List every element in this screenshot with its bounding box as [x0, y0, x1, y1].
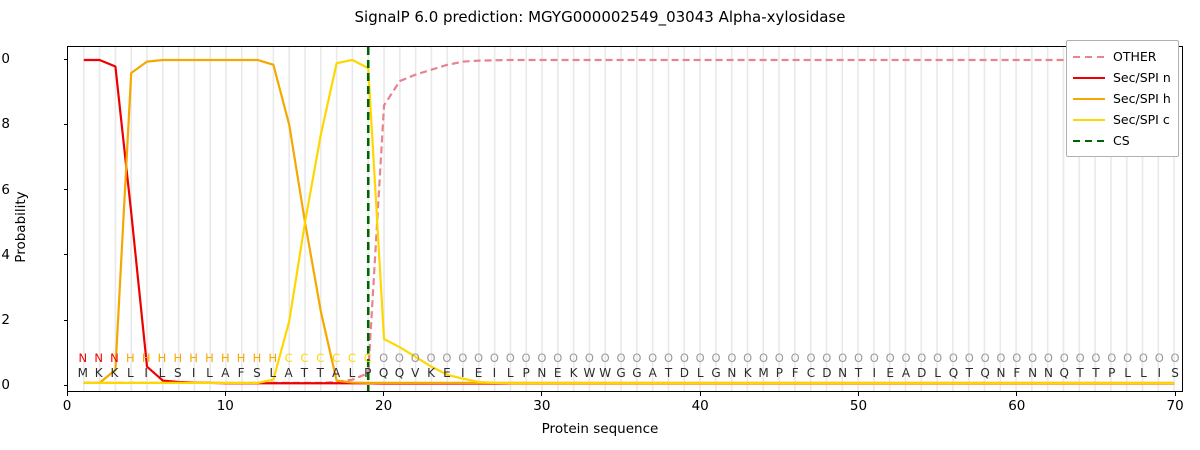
chart-legend: OTHERSec/SPI nSec/SPI hSec/SPI cCS	[1066, 40, 1179, 157]
legend-item-label: Sec/SPI c	[1113, 112, 1170, 127]
residue-region-code: O	[1160, 351, 1190, 365]
x-tick-mark	[383, 392, 384, 396]
x-tick-mark	[858, 392, 859, 396]
x-tick-label: 70	[1145, 398, 1200, 414]
x-tick-label: 40	[670, 398, 730, 414]
legend-item-sec-spi-c[interactable]: Sec/SPI c	[1073, 109, 1171, 130]
x-tick-label: 0	[37, 398, 97, 414]
legend-item-other[interactable]: OTHER	[1073, 46, 1171, 67]
x-tick-mark	[1016, 392, 1017, 396]
chart-title: SignalP 6.0 prediction: MGYG000002549_03…	[0, 8, 1200, 26]
plot-area	[67, 46, 1183, 392]
x-tick-label: 60	[987, 398, 1047, 414]
legend-item-cs[interactable]: CS	[1073, 130, 1171, 151]
x-tick-mark	[700, 392, 701, 396]
x-tick-label: 30	[512, 398, 572, 414]
x-tick-mark	[1175, 392, 1176, 396]
x-tick-label: 50	[828, 398, 888, 414]
series-line-sec-spi-h	[84, 60, 1174, 383]
legend-item-label: CS	[1113, 133, 1130, 148]
legend-item-label: OTHER	[1113, 49, 1156, 64]
x-tick-mark	[67, 392, 68, 396]
legend-color-swatch	[1073, 134, 1105, 148]
legend-color-swatch	[1073, 113, 1105, 127]
y-tick-label: 0.8	[0, 116, 10, 132]
legend-color-swatch	[1073, 50, 1105, 64]
y-tick-label: 0.0	[0, 377, 10, 393]
legend-item-sec-spi-h[interactable]: Sec/SPI h	[1073, 88, 1171, 109]
legend-color-swatch	[1073, 92, 1105, 106]
y-axis-label: Probability	[13, 147, 29, 307]
series-line-sec-spi-n	[84, 60, 1174, 384]
legend-item-label: Sec/SPI h	[1113, 91, 1171, 106]
x-axis-label: Protein sequence	[0, 421, 1200, 437]
series-line-other	[84, 60, 1174, 383]
series-line-sec-spi-c	[84, 60, 1174, 383]
x-tick-label: 20	[354, 398, 414, 414]
legend-item-label: Sec/SPI n	[1113, 70, 1171, 85]
x-tick-label: 10	[195, 398, 255, 414]
curve-layer	[68, 47, 1182, 391]
legend-item-sec-spi-n[interactable]: Sec/SPI n	[1073, 67, 1171, 88]
y-tick-label: 0.2	[0, 312, 10, 328]
x-tick-mark	[225, 392, 226, 396]
y-tick-label: 0.6	[0, 182, 10, 198]
y-tick-label: 1.0	[0, 51, 10, 67]
y-tick-label: 0.4	[0, 247, 10, 263]
residue-letter: S	[1160, 366, 1190, 380]
signalp-prediction-figure: SignalP 6.0 prediction: MGYG000002549_03…	[0, 0, 1200, 450]
x-tick-mark	[541, 392, 542, 396]
legend-color-swatch	[1073, 71, 1105, 85]
